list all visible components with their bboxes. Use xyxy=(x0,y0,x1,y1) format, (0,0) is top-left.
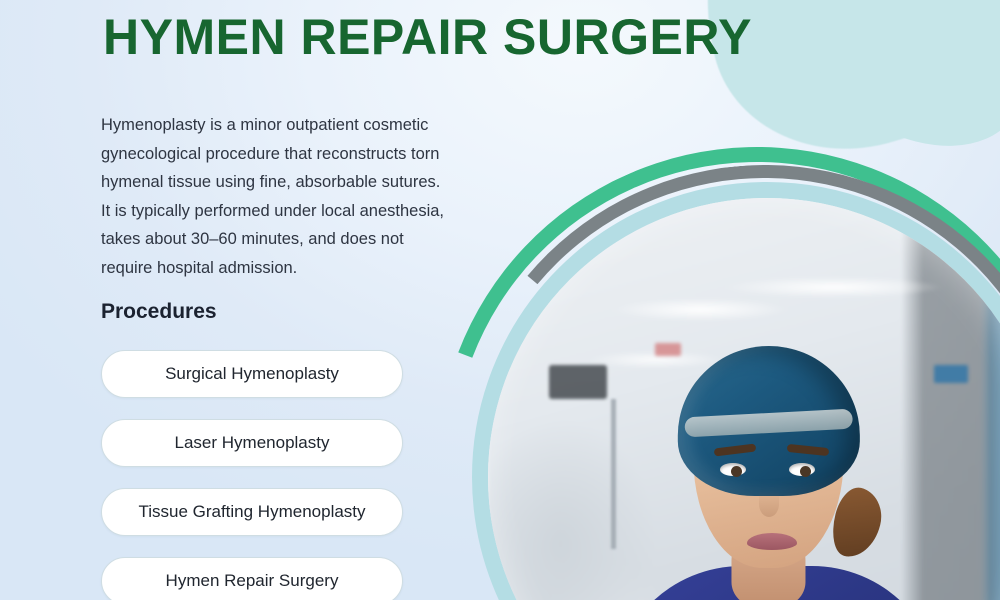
pupil-left xyxy=(731,466,742,477)
page-title: HYMEN REPAIR SURGERY xyxy=(103,8,752,66)
description-line: Hymenoplasty is a minor outpatient cosme… xyxy=(101,111,513,140)
lips xyxy=(747,533,797,550)
description-line: gynecological procedure that reconstruct… xyxy=(101,140,513,169)
list-item[interactable]: Laser Hymenoplasty xyxy=(101,419,403,467)
poster-canvas: HYMEN REPAIR SURGERY Hymenoplasty is a m… xyxy=(0,0,1000,600)
list-item[interactable]: Hymen Repair Surgery xyxy=(101,557,403,600)
list-item[interactable]: Tissue Grafting Hymenoplasty xyxy=(101,488,403,536)
surgeon-figure xyxy=(488,198,1000,600)
list-item[interactable]: Surgical Hymenoplasty xyxy=(101,350,403,398)
surgeon-photo xyxy=(488,198,1000,600)
description-line: require hospital admission. xyxy=(101,254,513,283)
description-line: hymenal tissue using fine, absorbable su… xyxy=(101,168,513,197)
description-paragraph: Hymenoplasty is a minor outpatient cosme… xyxy=(101,111,513,282)
procedures-heading: Procedures xyxy=(101,300,217,324)
procedures-list: Surgical Hymenoplasty Laser Hymenoplasty… xyxy=(101,350,403,600)
description-line: It is typically performed under local an… xyxy=(101,197,513,226)
nose xyxy=(759,491,779,517)
description-line: takes about 30–60 minutes, and does not xyxy=(101,225,513,254)
